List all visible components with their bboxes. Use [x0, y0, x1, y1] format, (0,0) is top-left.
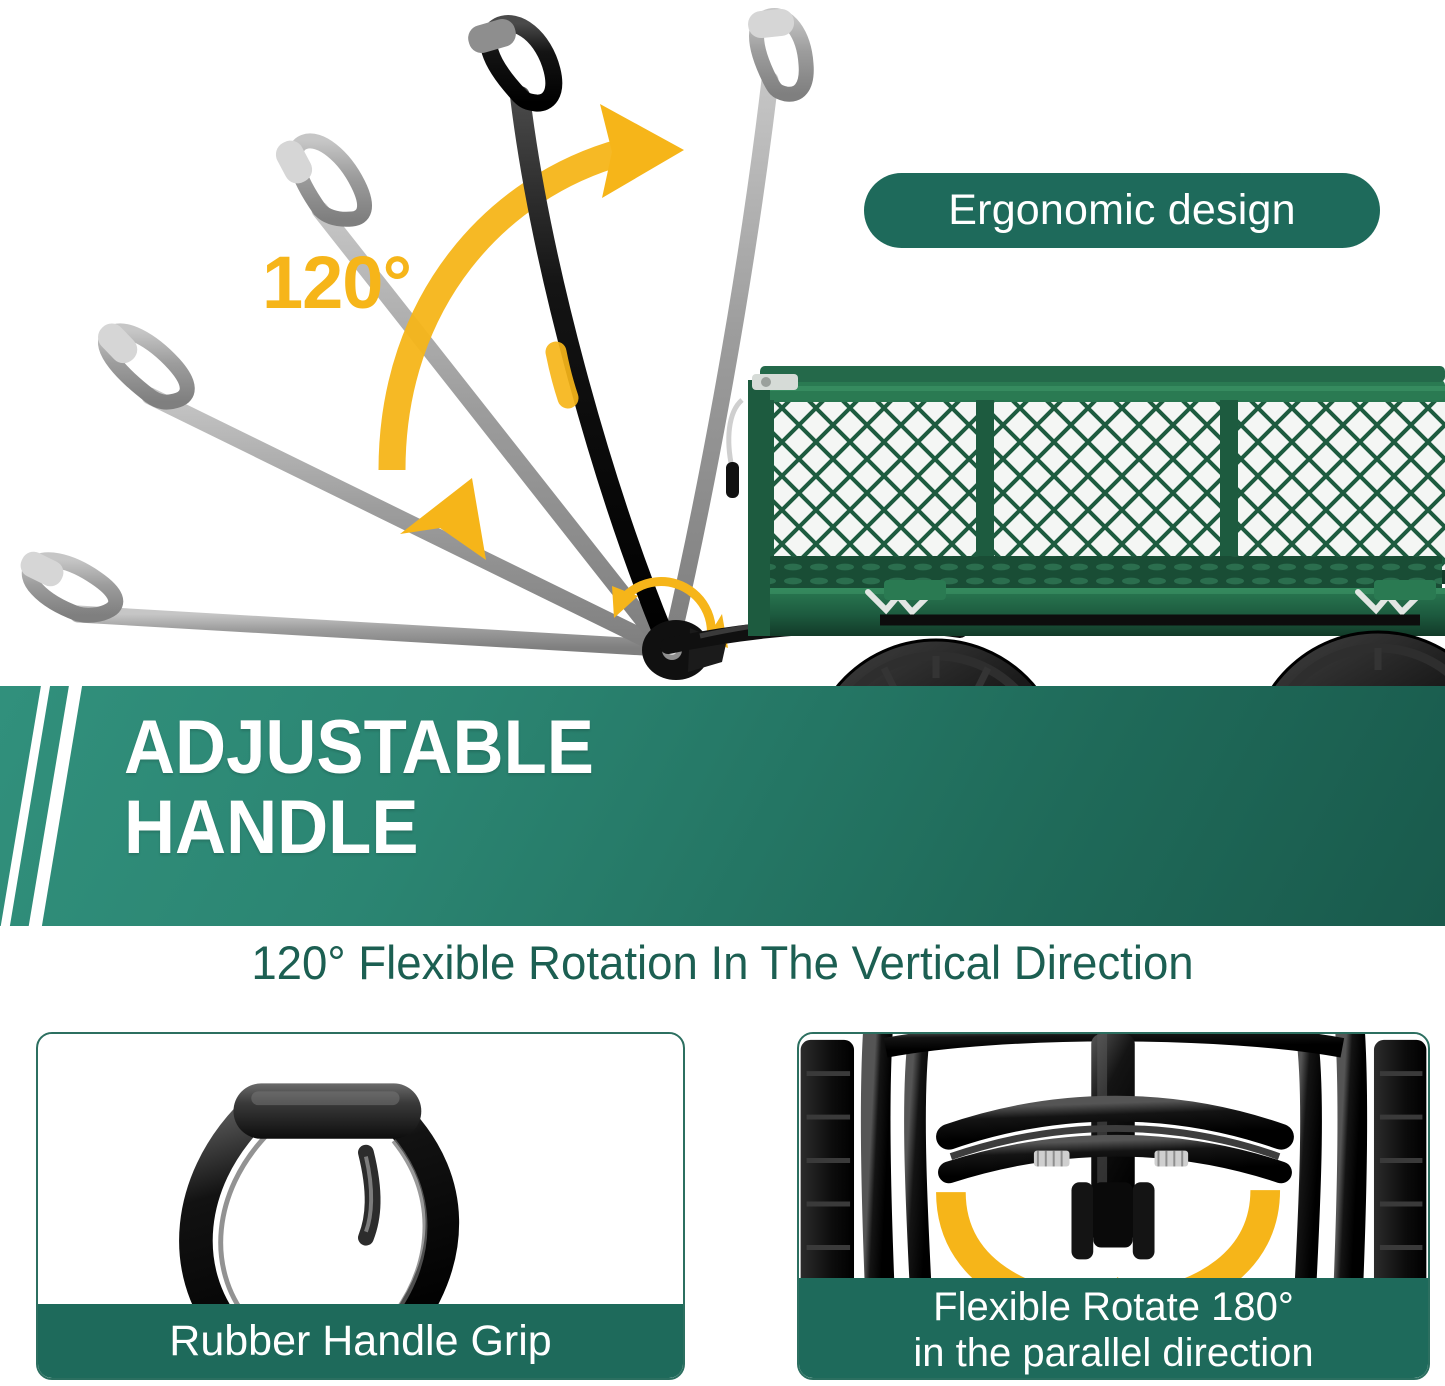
banner-title-line1: ADJUSTABLE	[124, 708, 594, 788]
hero-svg	[0, 0, 1445, 690]
card-flexible-rotate-180: 180° Flexible Rotate 180° in the paralle…	[797, 1032, 1430, 1380]
ergonomic-design-label: Ergonomic design	[948, 186, 1295, 235]
ghost-handle-3	[271, 136, 662, 644]
card-caption-rubber-handle-grip: Rubber Handle Grip	[38, 1304, 683, 1378]
ergonomic-design-badge: Ergonomic design	[864, 173, 1380, 248]
hero-illustration: Ergonomic design 120°	[0, 0, 1445, 690]
banner-title: ADJUSTABLE HANDLE	[124, 708, 594, 868]
wheel-rear	[808, 640, 1064, 690]
caption-right-line1: Flexible Rotate 180°	[799, 1284, 1428, 1330]
utility-cart	[668, 366, 1445, 690]
active-handle	[465, 16, 664, 636]
card-caption-flexible-rotate-180: Flexible Rotate 180° in the parallel dir…	[799, 1278, 1428, 1378]
card-rubber-handle-grip: Rubber Handle Grip	[36, 1032, 685, 1380]
latch-pin	[726, 400, 742, 498]
adjustable-handle-banner: ADJUSTABLE HANDLE	[0, 686, 1445, 926]
banner-title-line2: HANDLE	[124, 788, 594, 868]
wheel-front	[1250, 632, 1445, 690]
angle-120-label: 120°	[262, 240, 411, 325]
banner-slash-accent-2	[23, 686, 87, 926]
banner-subtitle: 120° Flexible Rotation In The Vertical D…	[22, 936, 1424, 990]
caption-right-line2: in the parallel direction	[799, 1330, 1428, 1376]
product-infographic: Ergonomic design 120° ADJUSTABLE HANDLE …	[0, 0, 1445, 1386]
